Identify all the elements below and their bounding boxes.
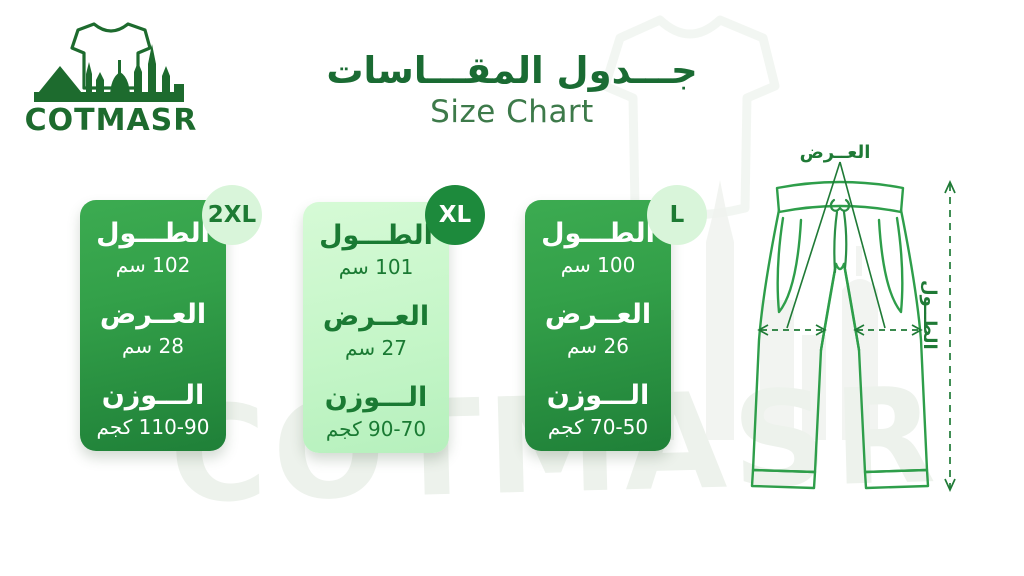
pants-diagram <box>735 140 1020 500</box>
cotmasr-logo: COTMASR <box>26 22 196 137</box>
measure-row-width: العــرض 27 سم <box>303 300 449 361</box>
size-card-2xl: الطـــول 102 سم العــرض 28 سم الـــوزن 1… <box>80 200 226 451</box>
size-badge-l: L <box>647 185 707 245</box>
measure-row-weight: الـــوزن 90-70 كجم <box>303 381 449 442</box>
size-card-l: الطـــول 100 سم العــرض 26 سم الـــوزن 7… <box>525 200 671 451</box>
measure-value: 110-90 كجم <box>80 414 226 440</box>
measure-value: 27 سم <box>303 335 449 361</box>
measure-row-weight: الـــوزن 110-90 كجم <box>80 379 226 440</box>
measure-value: 102 سم <box>80 252 226 278</box>
measure-value: 70-50 كجم <box>525 414 671 440</box>
measure-row-length: الطـــول 101 سم <box>303 219 449 280</box>
diagram-width-label: العــرض <box>770 142 900 163</box>
measure-value: 28 سم <box>80 333 226 359</box>
svg-text:COTMASR: COTMASR <box>26 103 196 137</box>
diagram-length-label: الطــول <box>919 280 940 350</box>
measure-label: الـــوزن <box>525 379 671 413</box>
measure-row-weight: الـــوزن 70-50 كجم <box>525 379 671 440</box>
measure-value: 101 سم <box>303 254 449 280</box>
size-card-xl: الطـــول 101 سم العــرض 27 سم الـــوزن 9… <box>303 202 449 453</box>
measure-label: العــرض <box>303 300 449 334</box>
measure-value: 26 سم <box>525 333 671 359</box>
measure-row-width: العــرض 28 سم <box>80 298 226 359</box>
size-chart-page: COTMASR COTMASR جـــدول المقـــاسات Size… <box>0 0 1024 576</box>
measure-value: 90-70 كجم <box>303 416 449 442</box>
page-title-arabic: جـــدول المقـــاسات <box>262 48 762 93</box>
size-badge-2xl: 2XL <box>202 185 262 245</box>
measure-label: الـــوزن <box>80 379 226 413</box>
measure-label: العــرض <box>525 298 671 332</box>
measure-label: العــرض <box>80 298 226 332</box>
measure-value: 100 سم <box>525 252 671 278</box>
measure-label: الـــوزن <box>303 381 449 415</box>
measure-row-width: العــرض 26 سم <box>525 298 671 359</box>
size-badge-xl: XL <box>425 185 485 245</box>
page-title-english: Size Chart <box>262 95 762 131</box>
page-title-block: جـــدول المقـــاسات Size Chart <box>262 48 762 131</box>
